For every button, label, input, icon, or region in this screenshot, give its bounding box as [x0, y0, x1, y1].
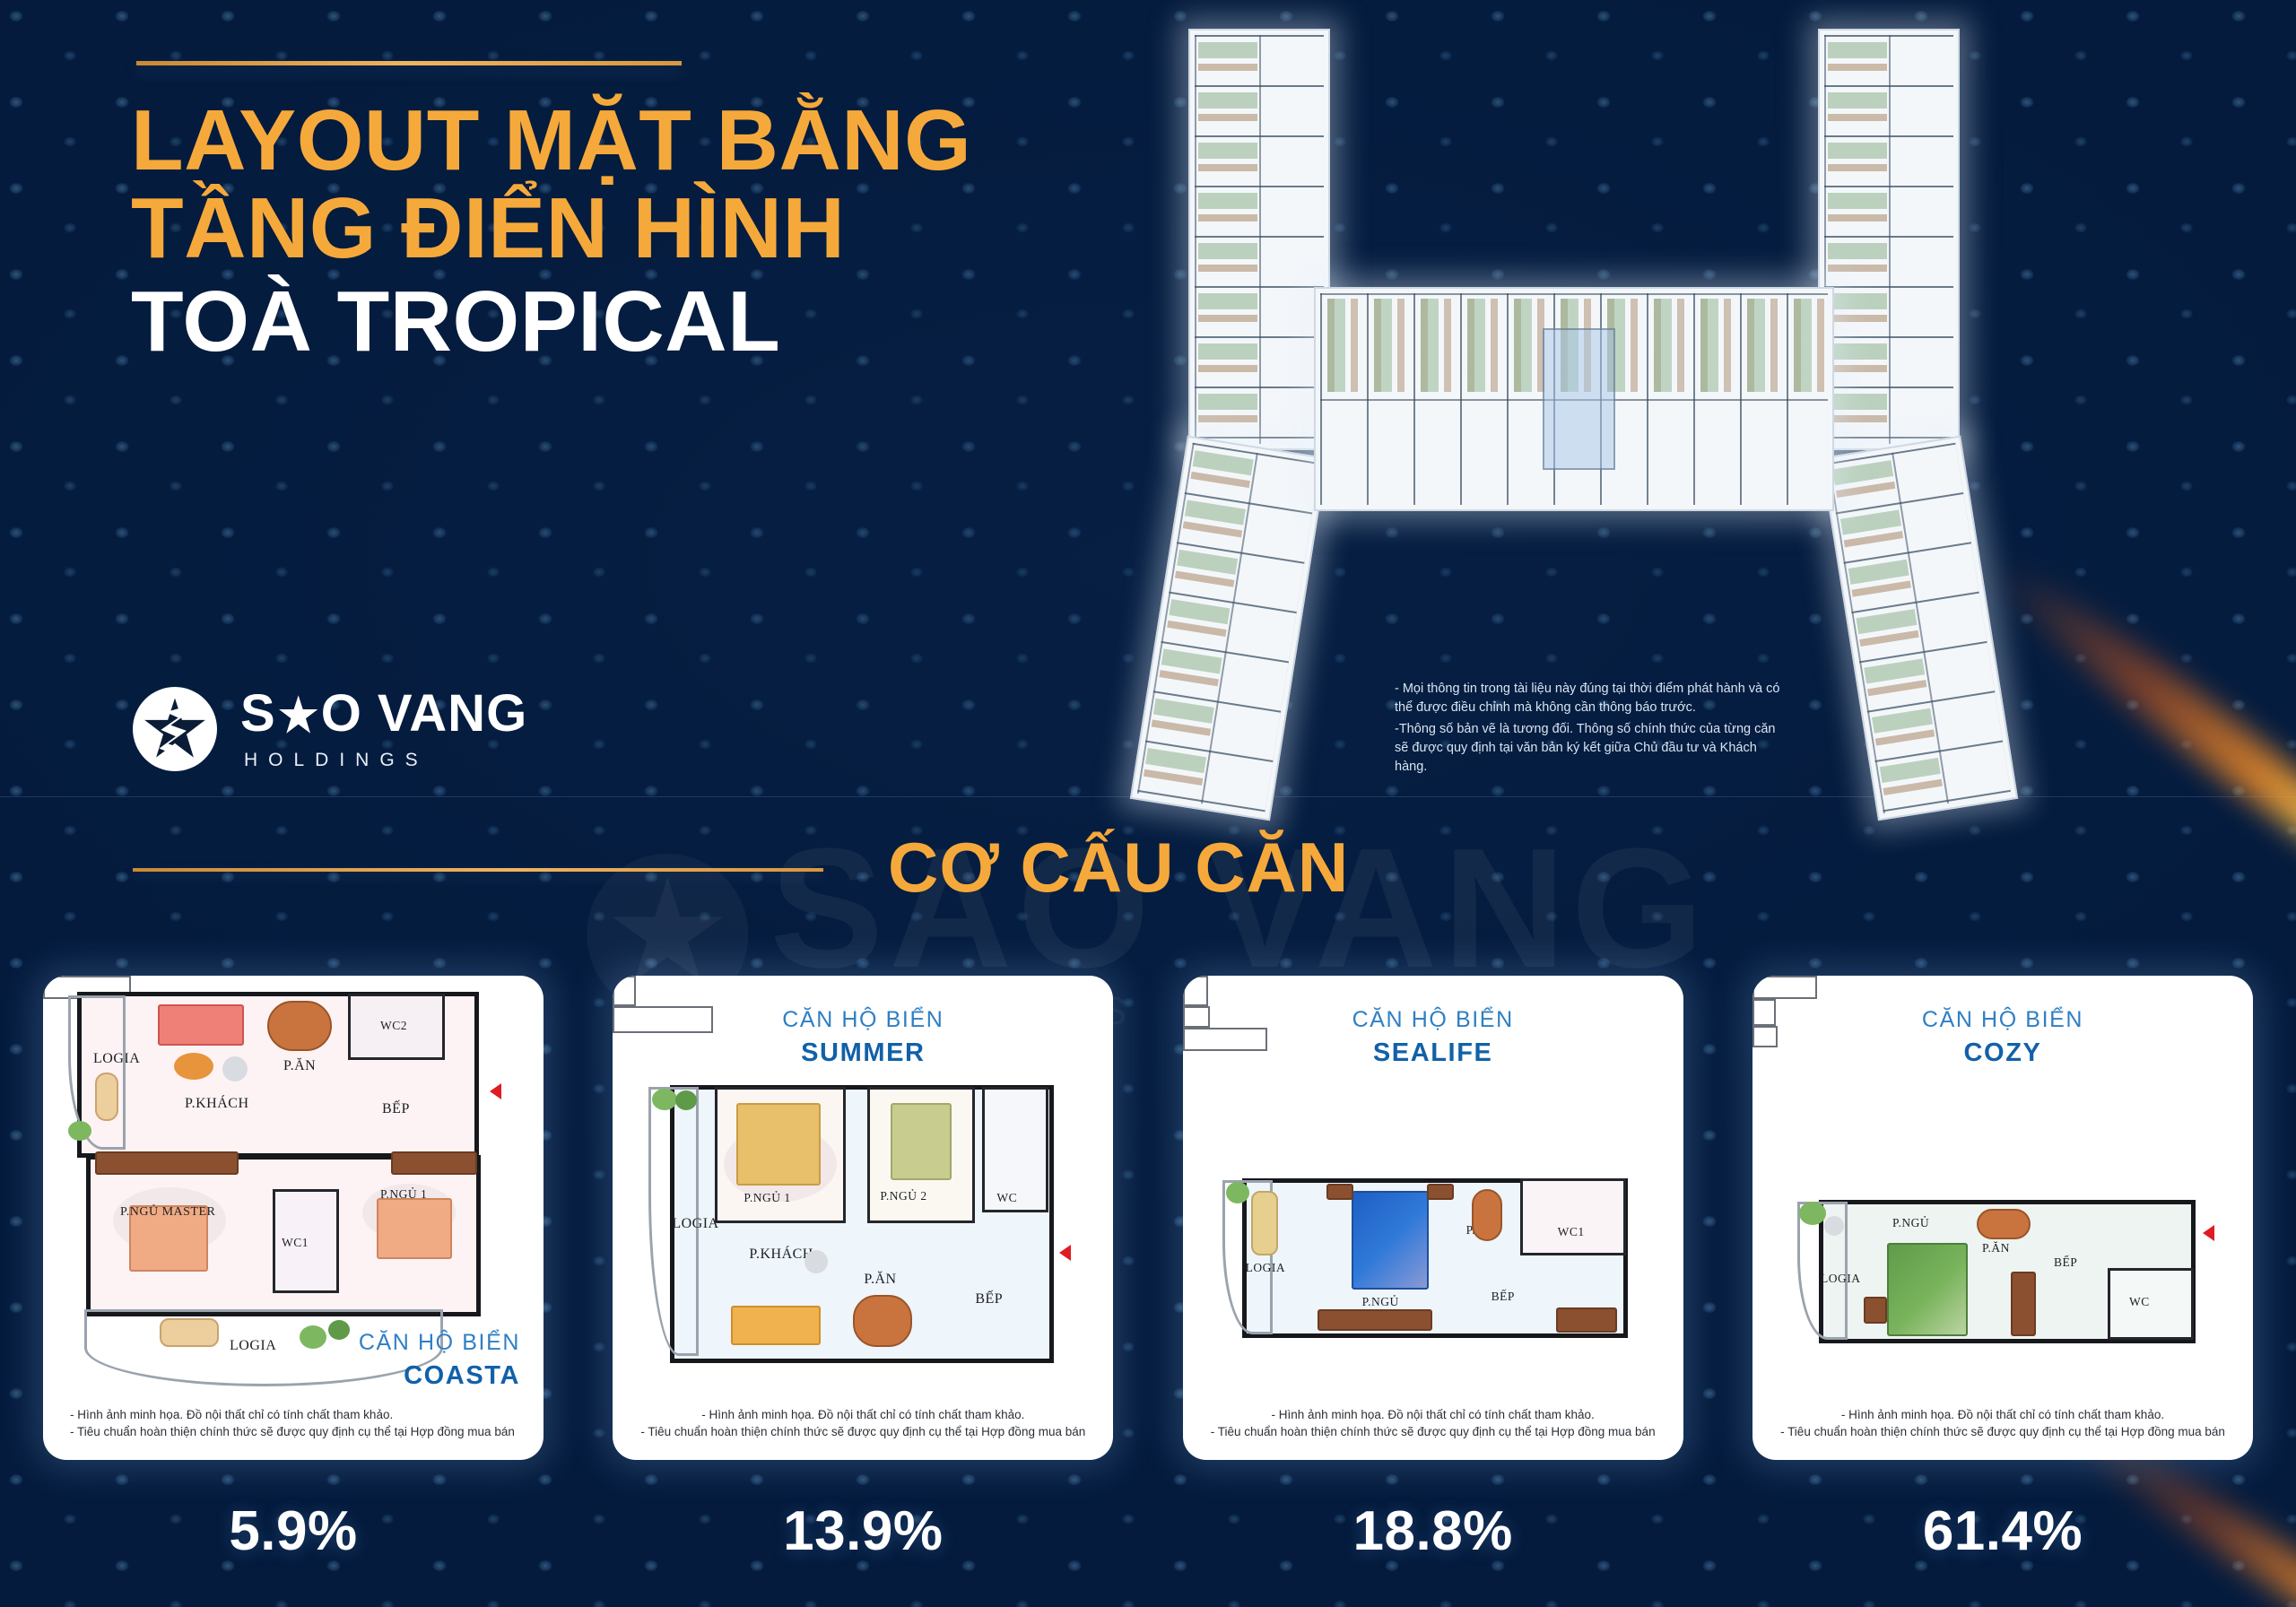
summer-room-label-ngu2: P.NGỦ 2	[880, 1189, 926, 1203]
logo-inline-star-icon	[278, 695, 319, 736]
coasta-room-label-wc2: WC2	[380, 1019, 407, 1033]
floor-plan-units	[1195, 35, 1324, 444]
entry-arrow-icon	[1059, 1245, 1071, 1261]
disclaimer-line-1: - Hình ảnh minh họa. Đồ nội thất chỉ có …	[638, 1406, 1088, 1423]
summer-room-label-logia: LOGIA	[672, 1216, 718, 1232]
floor-plan-wing-right-top	[1818, 29, 1960, 450]
section-title: CƠ CẤU CĂN	[888, 827, 1349, 908]
entry-arrow-icon	[490, 1083, 501, 1099]
bed-icon	[1887, 1243, 1968, 1336]
sealife-room-label-logia: LOGIA	[1246, 1261, 1286, 1275]
apartment-card-cozy[interactable]: CĂN HỘ BIỂN COZY LOGIA P.NGỦ P.ĂN BẾP	[1752, 976, 2253, 1460]
percent-summer: 13.9%	[613, 1499, 1113, 1563]
toilet-icon	[1752, 999, 1776, 1026]
title-line-3: TOÀ TROPICAL	[131, 278, 1144, 366]
decor-icon	[1824, 1216, 1844, 1236]
floor-plan-units	[1828, 443, 2011, 814]
logo-name-part-2: O VANG	[321, 688, 528, 740]
summer-room-label-wc: WC	[996, 1191, 1017, 1205]
floor-plan-note: - Mọi thông tin trong tài liệu này đúng …	[1395, 680, 1789, 779]
page-title: LAYOUT MẶT BẰNG TẦNG ĐIỂN HÌNH TOÀ TROPI…	[131, 97, 1144, 366]
brand-logo: S O VANG HOLDINGS	[133, 687, 527, 771]
card-disclaimer-coasta: - Hình ảnh minh họa. Đồ nội thất chỉ có …	[43, 1406, 544, 1440]
floor-plan-central-bridge	[1314, 287, 1834, 511]
apartment-card-coasta[interactable]: WC2 P.ĂN P.KHÁCH BẾP LOGIA P.NGỦ MASTER …	[43, 976, 544, 1460]
title-line-2: TẦNG ĐIỂN HÌNH	[131, 185, 1144, 273]
sofa-icon	[158, 1004, 244, 1046]
floor-plan-units	[1824, 35, 1953, 444]
floor-plan-core	[1543, 328, 1615, 469]
chair-icon	[95, 1073, 118, 1121]
plant-icon	[328, 1320, 350, 1340]
cozy-room-label-pan: P.ĂN	[1982, 1241, 2010, 1255]
header-accent-rule	[136, 61, 682, 65]
cozy-room-label-wc: WC	[2129, 1295, 2150, 1309]
nightstand-icon	[1864, 1297, 1887, 1324]
disclaimer-line-1: - Hình ảnh minh họa. Đồ nội thất chỉ có …	[70, 1406, 518, 1423]
floorplan-cozy: LOGIA P.NGỦ P.ĂN BẾP WC	[1752, 976, 2253, 1460]
building-floor-plan-image	[1179, 9, 1982, 789]
section-accent-rule	[133, 868, 823, 872]
floor-plan-note-line-2: -Thông số bản vẽ là tương đối. Thông số …	[1395, 720, 1789, 777]
sink-icon	[1752, 1026, 1778, 1047]
plant-icon	[300, 1325, 326, 1349]
chair-icon	[160, 1318, 219, 1347]
card-disclaimer-cozy: - Hình ảnh minh họa. Đồ nội thất chỉ có …	[1752, 1406, 2253, 1440]
floorplan-summer: LOGIA P.NGỦ 1 P.NGỦ 2 WC P.KHÁCH	[613, 976, 1113, 1460]
floor-plan-wing-left-top	[1188, 29, 1330, 450]
sealife-room-label-ngu: P.NGỦ	[1362, 1295, 1399, 1309]
card-title-coasta: CĂN HỘ BIỂN COASTA	[359, 1329, 520, 1393]
toilet-icon	[1183, 976, 1208, 1006]
disclaimer-line-2: - Tiêu chuẩn hoàn thiện chính thức sẽ đư…	[1778, 1423, 2228, 1440]
cozy-room-label-bep: BẾP	[2054, 1255, 2077, 1270]
nightstand-icon	[1326, 1184, 1353, 1200]
decor-icon	[222, 1056, 248, 1081]
disclaimer-line-1: - Hình ảnh minh họa. Đồ nội thất chỉ có …	[1208, 1406, 1658, 1423]
cabinet-icon	[1556, 1307, 1617, 1333]
wardrobe-icon	[391, 1151, 477, 1175]
floorplan-sealife: LOGIA P.NGỦ P.ĂN WC1 BẾP	[1183, 976, 1683, 1460]
coasta-room-label-pkhach: P.KHÁCH	[185, 1096, 249, 1112]
apartment-card-summer[interactable]: CĂN HỘ BIỂN SUMMER LOGIA P.NGỦ 1 P.NGỦ 2	[613, 976, 1113, 1460]
plant-icon	[68, 1121, 91, 1141]
logo-subtitle: HOLDINGS	[244, 750, 527, 771]
bed-icon	[1352, 1191, 1429, 1290]
percentage-row: 5.9% 13.9% 18.8% 61.4%	[0, 1499, 2296, 1563]
summer-room-label-pan: P.ĂN	[864, 1272, 896, 1288]
coasta-room-label-logia-bottom: LOGIA	[230, 1338, 276, 1354]
card-disclaimer-sealife: - Hình ảnh minh họa. Đồ nội thất chỉ có …	[1183, 1406, 1683, 1440]
plant-icon	[1226, 1182, 1249, 1203]
floor-plan-note-line-1: - Mọi thông tin trong tài liệu này đúng …	[1395, 680, 1789, 717]
percent-sealife: 18.8%	[1183, 1499, 1683, 1563]
card-name: COASTA	[359, 1359, 520, 1392]
coasta-room-label-bep: BẾP	[382, 1101, 410, 1117]
floor-plan-wing-left-bottom	[1130, 436, 1327, 821]
tv-cabinet-icon	[1318, 1309, 1432, 1331]
summer-room-label-pkhach: P.KHÁCH	[749, 1247, 813, 1263]
kitchen-counter-icon	[1183, 1028, 1267, 1051]
coasta-room-label-pan: P.ĂN	[283, 1058, 316, 1074]
bed-icon	[377, 1198, 452, 1259]
disclaimer-line-2: - Tiêu chuẩn hoàn thiện chính thức sẽ đư…	[70, 1423, 518, 1440]
card-subtitle: CĂN HỘ BIỂN	[359, 1329, 520, 1357]
apartment-card-sealife[interactable]: CĂN HỘ BIỂN SEALIFE LOGIA P.NGỦ P.ĂN	[1183, 976, 1683, 1460]
floor-plan-units	[1137, 443, 1320, 814]
dining-table-icon	[1472, 1189, 1502, 1241]
bed-icon	[891, 1103, 952, 1180]
entry-arrow-icon	[2203, 1225, 2214, 1241]
disclaimer-line-1: - Hình ảnh minh họa. Đồ nội thất chỉ có …	[1778, 1406, 2228, 1423]
toilet-icon	[613, 976, 636, 1006]
disclaimer-line-2: - Tiêu chuẩn hoàn thiện chính thức sẽ đư…	[1208, 1423, 1658, 1440]
card-disclaimer-summer: - Hình ảnh minh họa. Đồ nội thất chỉ có …	[613, 1406, 1113, 1440]
sink-icon	[1183, 1006, 1210, 1028]
bed-icon	[736, 1103, 821, 1186]
dining-table-icon	[1977, 1209, 2031, 1239]
cabinet-icon	[2011, 1272, 2036, 1336]
disclaimer-line-2: - Tiêu chuẩn hoàn thiện chính thức sẽ đư…	[638, 1423, 1088, 1440]
summer-room-label-bep: BẾP	[975, 1291, 1003, 1307]
coasta-room-label-wc1: WC1	[282, 1236, 309, 1250]
logo-star-circle-icon	[133, 687, 217, 771]
kitchen-counter-icon	[1752, 976, 1817, 999]
sealife-room-label-wc1: WC1	[1558, 1225, 1585, 1239]
logo-name-part-1: S	[240, 688, 276, 740]
plant-icon	[1799, 1202, 1826, 1225]
nightstand-icon	[1427, 1184, 1454, 1200]
chair-icon	[1251, 1191, 1278, 1255]
percent-coasta: 5.9%	[43, 1499, 544, 1563]
sofa-icon	[731, 1306, 821, 1345]
wardrobe-icon	[95, 1151, 239, 1175]
dining-table-icon	[267, 1001, 332, 1051]
kitchen-counter-icon	[613, 1006, 713, 1033]
title-line-1: LAYOUT MẶT BẰNG	[131, 97, 1144, 185]
apartment-card-list: WC2 P.ĂN P.KHÁCH BẾP LOGIA P.NGỦ MASTER …	[0, 976, 2296, 1460]
meteor-streak-icon	[1975, 543, 2296, 926]
percent-cozy: 61.4%	[1752, 1499, 2253, 1563]
logo-wordmark: S O VANG HOLDINGS	[240, 688, 527, 771]
sealife-wc1	[1520, 1178, 1626, 1255]
cozy-room-label-ngu: P.NGỦ	[1892, 1216, 1929, 1230]
rug-icon	[174, 1053, 213, 1080]
coasta-room-label-master: P.NGỦ MASTER	[120, 1205, 215, 1220]
sealife-room-label-bep: BẾP	[1492, 1290, 1515, 1304]
cozy-wc	[2108, 1268, 2194, 1340]
cozy-room-label-logia: LOGIA	[1821, 1272, 1861, 1286]
dining-table-icon	[853, 1295, 912, 1347]
poster-root: SAO VANG HOLDINGS LAYOUT MẶT BẰNG TẦNG Đ…	[0, 0, 2296, 1607]
coasta-room-label-ngu1: P.NGỦ 1	[380, 1187, 427, 1202]
logo-name: S O VANG	[240, 688, 527, 740]
summer-room-label-ngu1: P.NGỦ 1	[744, 1191, 790, 1205]
floor-plan-wing-right-bottom	[1821, 436, 2018, 821]
